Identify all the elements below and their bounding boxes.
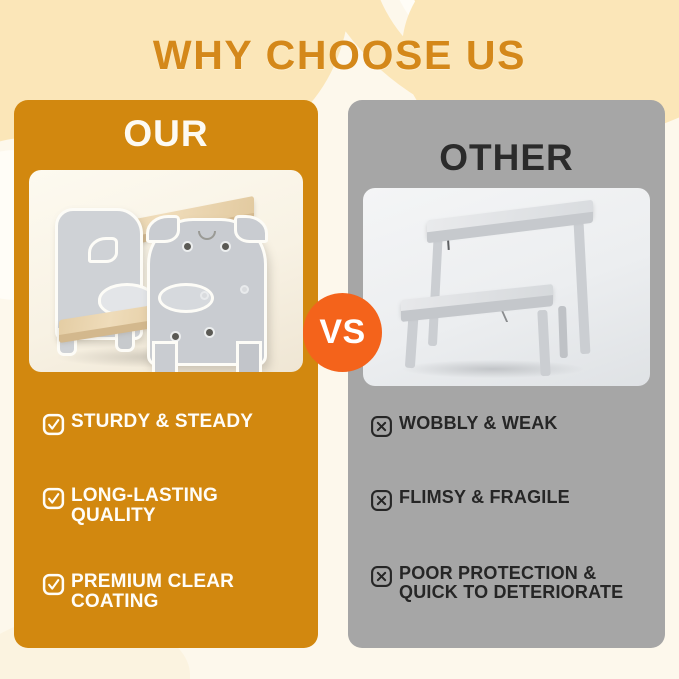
list-item: STURDY & STEADY bbox=[42, 412, 253, 436]
check-icon bbox=[42, 413, 65, 436]
panel-other-heading: OTHER bbox=[348, 100, 665, 178]
list-item-label: POOR PROTECTION & QUICK TO DETERIORATE bbox=[399, 564, 623, 602]
list-item: WOBBLY & WEAK bbox=[370, 414, 558, 438]
list-item: POOR PROTECTION & QUICK TO DETERIORATE bbox=[370, 564, 623, 602]
list-item-label: STURDY & STEADY bbox=[71, 412, 253, 432]
list-item-label: LONG-LASTING QUALITY bbox=[71, 486, 218, 526]
face-eye bbox=[206, 329, 213, 336]
list-item-label: PREMIUM CLEAR COATING bbox=[71, 572, 234, 612]
face-eye bbox=[222, 243, 229, 250]
stool-leg-mid bbox=[558, 306, 568, 358]
list-item-label: WOBBLY & WEAK bbox=[399, 414, 558, 433]
stool-leg-rear-left bbox=[428, 228, 443, 346]
list-item-label: FLIMSY & FRAGILE bbox=[399, 488, 570, 507]
panel-our: OUR bbox=[14, 100, 318, 648]
front-ear-right bbox=[234, 215, 268, 243]
cross-icon bbox=[370, 415, 393, 438]
panel-our-product-image bbox=[29, 170, 303, 372]
face-dot bbox=[242, 287, 247, 292]
list-item: LONG-LASTING QUALITY bbox=[42, 486, 218, 526]
versus-badge: VS bbox=[303, 293, 382, 372]
face-dot bbox=[202, 293, 207, 298]
panel-other: OTHER bbox=[348, 100, 665, 648]
panel-our-heading: OUR bbox=[14, 100, 318, 154]
rear-ear-shape bbox=[88, 237, 118, 263]
list-item: PREMIUM CLEAR COATING bbox=[42, 572, 234, 612]
list-item: FLIMSY & FRAGILE bbox=[370, 488, 570, 512]
product-shadow bbox=[403, 360, 583, 378]
infographic-canvas: WHY CHOOSE US OUR bbox=[0, 0, 679, 679]
stool-leg-rear-right bbox=[574, 222, 591, 354]
face-eye bbox=[172, 333, 179, 340]
plain-step-stool-illustration bbox=[363, 188, 650, 386]
front-cutout bbox=[158, 283, 214, 313]
animal-step-stool-illustration bbox=[29, 170, 303, 372]
check-icon bbox=[42, 487, 65, 510]
front-leg-right bbox=[236, 341, 262, 372]
cross-icon bbox=[370, 489, 393, 512]
front-side-panel bbox=[147, 218, 267, 366]
panel-other-product-image bbox=[363, 188, 650, 386]
face-smile bbox=[198, 231, 216, 240]
cross-icon bbox=[370, 565, 393, 588]
stool-leg-front-right bbox=[537, 310, 550, 376]
check-icon bbox=[42, 573, 65, 596]
page-title: WHY CHOOSE US bbox=[0, 32, 679, 78]
face-eye bbox=[184, 243, 191, 250]
front-leg-left bbox=[152, 341, 178, 372]
